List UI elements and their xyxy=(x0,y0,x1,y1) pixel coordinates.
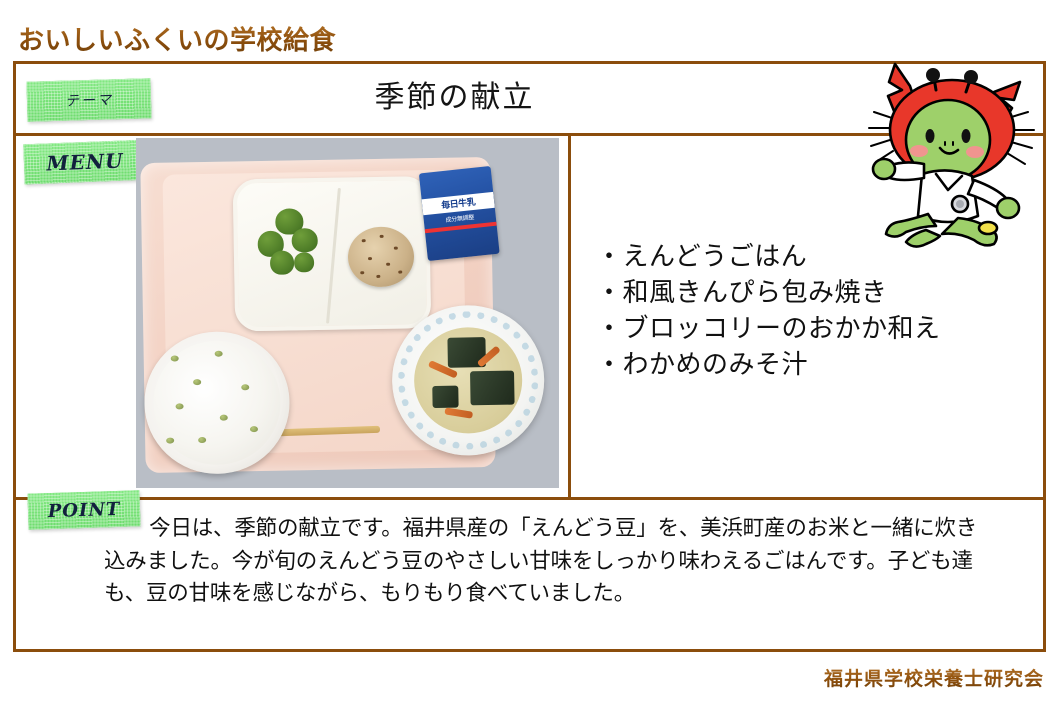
lunch-photo: 毎日牛乳 成分無調整 xyxy=(136,138,559,488)
rice-bowl xyxy=(143,331,290,476)
divided-plate xyxy=(233,176,432,331)
endou-rice xyxy=(152,340,281,466)
broccoli-dish xyxy=(253,204,326,281)
crab-frog-mascot-icon xyxy=(862,56,1052,252)
divider-vertical xyxy=(568,133,571,497)
divider-point xyxy=(16,497,1043,500)
menu-item: ・ブロッコリーのおかか和え xyxy=(596,311,941,347)
milk-carton: 毎日牛乳 成分無調整 xyxy=(419,166,500,261)
menu-item-list: ・えんどうごはん ・和風きんぴら包み焼き ・ブロッコリーのおかか和え ・わかめの… xyxy=(596,239,941,383)
page-title: おいしいふくいの学校給食 xyxy=(18,20,336,57)
menu-item: ・和風きんぴら包み焼き xyxy=(596,275,941,311)
sticky-label-menu-text: MENU xyxy=(46,149,124,176)
mascot-illustration xyxy=(862,56,1052,252)
footer-organization: 福井県学校栄養士研究会 xyxy=(0,664,1044,691)
slide-page: おいしいふくいの学校給食 テーマ 季節の献立 MENU xyxy=(0,0,1064,707)
miso-soup-bowl xyxy=(391,304,546,457)
menu-item: ・わかめのみそ汁 xyxy=(596,347,941,383)
point-description: 今日は、季節の献立です。福井県産の「えんどう豆」を、美浜町産のお米と一緒に炊き込… xyxy=(104,512,984,610)
sticky-label-menu: MENU xyxy=(23,140,146,185)
lunch-tray: 毎日牛乳 成分無調整 xyxy=(140,157,495,473)
kinpira-patty xyxy=(347,226,414,287)
